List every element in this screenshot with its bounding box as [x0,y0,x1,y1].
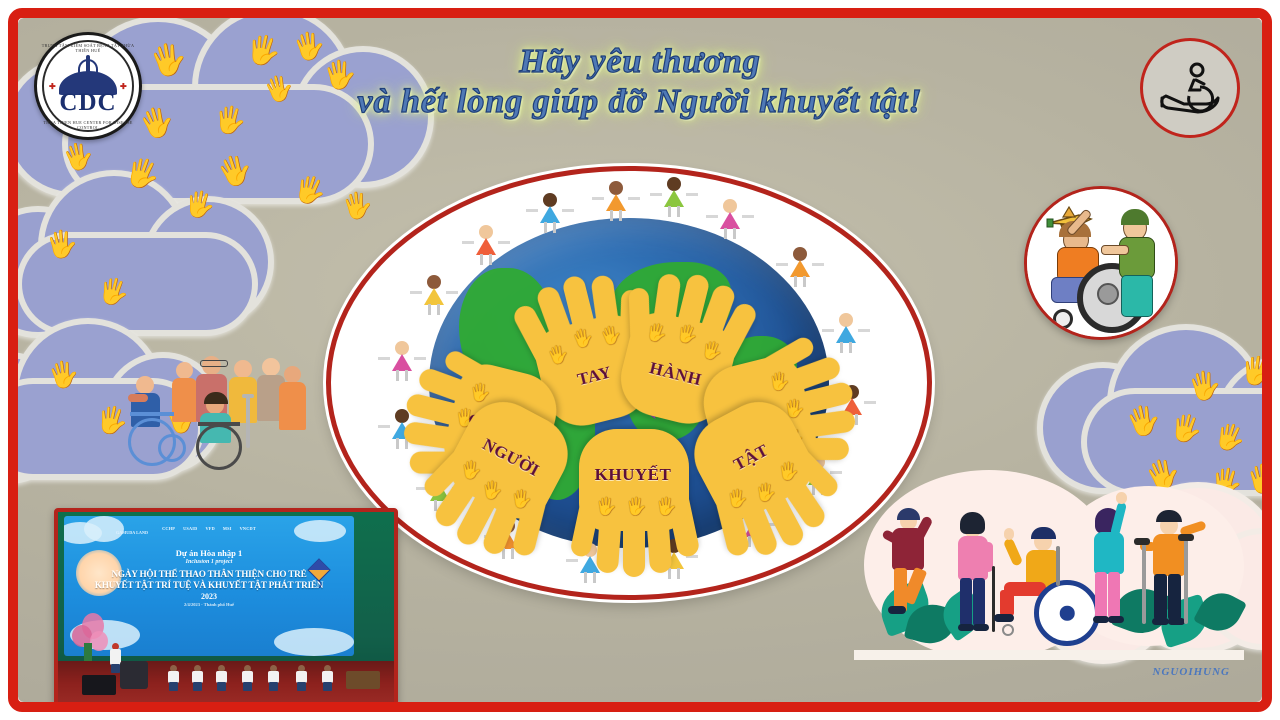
mini-hand-icon: 🖐 [511,490,532,507]
sponsor-logos: CCHP USAID VFD MSI VNCDT [64,519,354,537]
performer [242,665,253,691]
hand-label-text: KHUYẾT [571,465,695,485]
open-hand-icon: 🖐 [45,230,80,259]
performer [322,665,333,691]
poster-canvas: 🖐 🖐 🖐 🖐 🖐 🖐 🖐 🖐 🖐 🖐 🖐 🖐 🖐 🖐 🖐 🖐 🖐 🖐 🖐 🖐 … [18,18,1262,702]
sponsor-logo: MSI [223,526,232,531]
mini-hand-icon: 🖐 [755,484,776,501]
mini-hand-icon: 🖐 [626,498,647,515]
open-hand-icon: 🖐 [213,106,248,135]
open-hand-icon: 🖐 [1186,371,1223,402]
open-hand-icon: 🖐 [340,192,374,221]
crutch-icon [1134,538,1150,545]
banner-project-vi: Dự án Hòa nhập 1 [64,548,354,558]
cdc-logo: TRUNG TÂM KIỂM SOÁT BỆNH TẬT THỪA THIÊN … [34,32,142,140]
open-hand-icon: 🖐 [291,31,327,62]
banner-year: 2023 [64,592,354,601]
open-hand-icon: 🖐 [1168,413,1205,445]
open-hand-icon: 🖐 [1239,356,1262,386]
mini-hand-icon: 🖐 [675,324,700,346]
open-hand-icon: 🖐 [147,42,190,79]
crutch-icon [1178,534,1194,541]
walking-cane-icon [992,566,995,632]
group-of-people-with-disabilities-icon [122,350,306,470]
mini-hand-icon: 🖐 [598,325,623,347]
performer [216,665,227,691]
open-hand-icon: 🖐 [322,60,358,90]
mini-hand-icon: 🖐 [460,461,481,478]
watermark-text: NGUOIHUNG [1153,666,1230,678]
red-cross-icon: ✚ [120,82,127,89]
banner-subline: 2/4/2023 - Thành phố Huế [64,602,354,607]
poster-root: 🖐 🖐 🖐 🖐 🖐 🖐 🖐 🖐 🖐 🖐 🖐 🖐 🖐 🖐 🖐 🖐 🖐 🖐 🖐 🖐 … [0,0,1280,720]
wheelchair-icon [1034,580,1100,646]
sponsor-logo: VNCDT [240,526,256,531]
logo-ring-text-bottom: THUA THIEN HUE CENTER FOR DISEASE CONTRO… [37,120,139,130]
open-hand-icon: 🖐 [96,277,132,308]
mini-hand-icon: 🖐 [546,344,571,366]
open-hand-icon: 🖐 [182,191,216,220]
mini-hand-icon: 🖐 [778,463,799,480]
performer [168,665,179,691]
event-photo: CCHP USAID VFD MSI VNCDT GAMUDA LAND Dự … [54,508,398,702]
open-hand-icon: 🖐 [244,35,283,69]
sponsor-logo: CCHP [162,526,175,531]
logo-ring-text-top: TRUNG TÂM KIỂM SOÁT BỆNH TẬT THỪA THIÊN … [37,43,139,53]
central-slogan-graphic: VÌ 🖐 🖐 🖐 TAY [326,166,932,600]
mini-hand-icon: 🖐 [727,490,748,507]
crutch-icon [1142,540,1146,624]
sponsor-logo: USAID [183,526,197,531]
crutch-icon [1184,536,1188,624]
mini-hand-icon: 🖐 [570,328,595,350]
cdc-acronym: CDC [37,89,139,117]
hand-supporting-wheelchair-icon [1140,38,1240,138]
wheelchair-icon [196,424,242,470]
performer [268,665,279,691]
open-hand-icon: 🖐 [46,360,81,390]
kite-icon [306,558,332,588]
mini-hand-icon: 🖐 [656,498,677,515]
inclusive-people-celebrating-icon: NGUOIHUNG [844,476,1244,686]
sponsor-logo: GAMUDA LAND [116,530,148,535]
ground-line [854,650,1244,660]
mini-hand-icon: 🖐 [596,498,617,515]
sponsor-logo: VFD [205,526,214,531]
performer [296,665,307,691]
mini-hand-icon: 🖐 [699,340,724,362]
mini-hand-icon: 🖐 [481,482,502,499]
kid-in-wheelchair-with-friend-icon [1024,186,1178,340]
hand-label-khuyet: 🖐 🖐 🖐 KHUYẾT [571,427,695,577]
mini-hand-icon: 🖐 [644,322,669,344]
performer [192,665,203,691]
red-cross-icon: ✚ [49,82,56,89]
